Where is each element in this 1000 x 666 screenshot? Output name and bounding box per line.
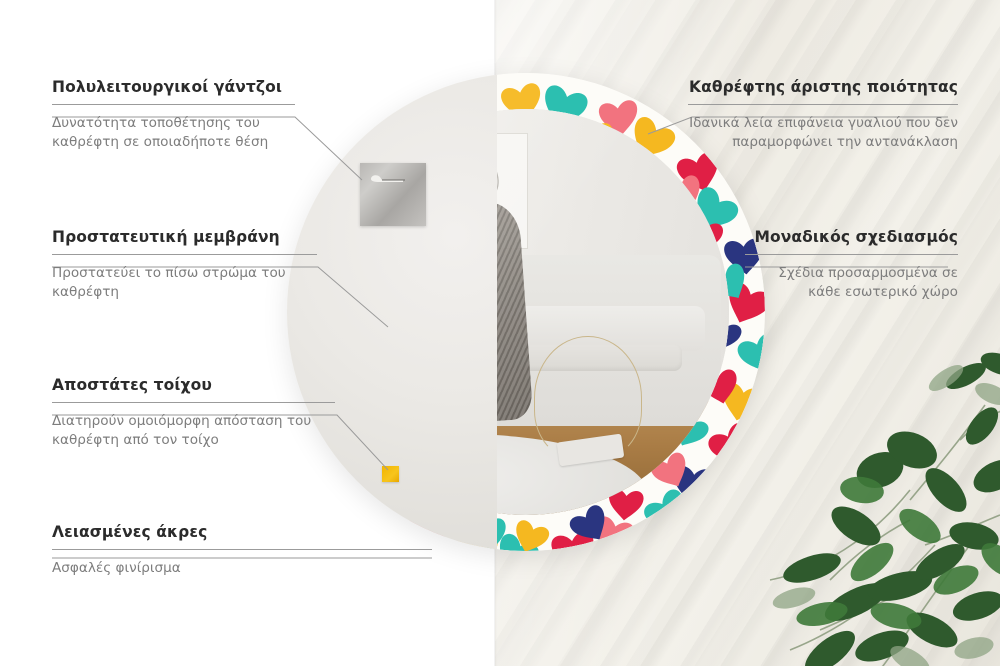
- feature-block-spacers: Αποστάτες τοίχου Διατηρούν ομοιόμορφη απ…: [52, 376, 335, 451]
- feature-rule: [52, 549, 432, 550]
- feature-rule: [688, 104, 958, 105]
- plant-svg: [760, 330, 1000, 666]
- feature-description: Σχέδια προσαρμοσμένα σε κάθε εσωτερικό χ…: [745, 264, 958, 303]
- feature-description: Ιδανικά λεία επιφάνεια γυαλιού που δεν π…: [688, 114, 958, 153]
- feature-title: Λειασμένες άκρες: [52, 523, 432, 541]
- feature-block-hooks: Πολυλειτουργικοί γάντζοι Δυνατότητα τοπο…: [52, 78, 297, 153]
- feature-description: Διατηρούν ομοιόμορφη απόσταση του καθρέφ…: [52, 412, 335, 451]
- feature-description: Προστατεύει το πίσω στρώμα του καθρέφτη: [52, 264, 317, 303]
- feature-title: Αποστάτες τοίχου: [52, 376, 335, 394]
- feature-block-design: Μοναδικός σχεδιασμός Σχέδια προσαρμοσμέν…: [745, 228, 958, 303]
- feature-block-edges: Λειασμένες άκρες Ασφαλές φινίρισμα: [52, 523, 432, 578]
- feature-block-membrane: Προστατευτική μεμβράνη Προστατεύει το πί…: [52, 228, 317, 303]
- feature-title: Καθρέφτης άριστης ποιότητας: [688, 78, 958, 96]
- product-feature-infographic: Πολυλειτουργικοί γάντζοι Δυνατότητα τοπο…: [0, 0, 1000, 666]
- feature-description: Ασφαλές φινίρισμα: [52, 559, 432, 578]
- feature-block-quality: Καθρέφτης άριστης ποιότητας Ιδανικά λεία…: [688, 78, 958, 153]
- feature-title: Πολυλειτουργικοί γάντζοι: [52, 78, 297, 96]
- wall-hook-plate: [360, 163, 426, 226]
- decorative-plant-foliage: [760, 330, 1000, 666]
- feature-title: Προστατευτική μεμβράνη: [52, 228, 317, 246]
- feature-rule: [52, 254, 317, 255]
- feature-rule: [52, 402, 335, 403]
- feature-description: Δυνατότητα τοποθέτησης του καθρέφτη σε ο…: [52, 114, 297, 153]
- wall-spacer-marker: [382, 466, 399, 482]
- feature-title: Μοναδικός σχεδιασμός: [745, 228, 958, 246]
- hook-icon: [369, 174, 409, 185]
- feature-rule: [745, 254, 958, 255]
- feature-rule: [52, 104, 295, 105]
